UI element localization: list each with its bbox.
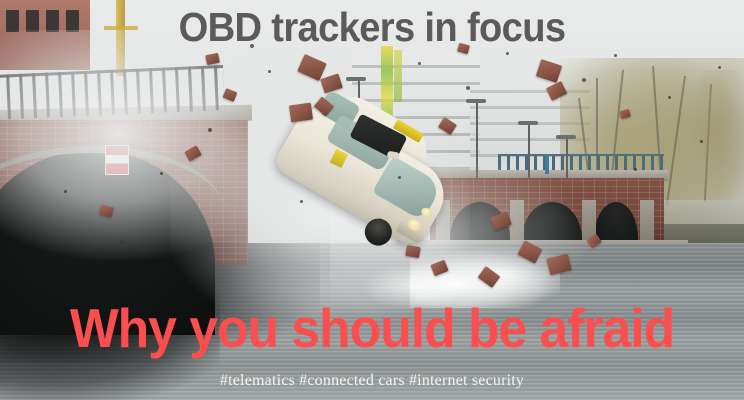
flying-brick [405, 245, 421, 258]
debris-speck [208, 128, 212, 132]
debris-speck [268, 70, 271, 73]
debris-speck [418, 62, 421, 65]
street-lamp-head-2 [518, 121, 538, 125]
debris-speck [700, 140, 703, 143]
debris-speck [160, 172, 163, 175]
debris-speck [466, 86, 470, 90]
debris-speck [718, 66, 721, 69]
hashtag-list: #telematics #connected cars #internet se… [0, 372, 744, 390]
debris-speck [634, 168, 637, 171]
page-title: OBD trackers in focus [26, 2, 718, 52]
debris-speck [300, 200, 303, 203]
debris-speck [614, 54, 617, 57]
article-header-banner: OBD trackers in focus Why you should be … [0, 0, 744, 400]
debris-speck [668, 96, 671, 99]
debris-speck [64, 190, 67, 193]
headline-text: Why you should be afraid [22, 298, 721, 358]
debris-speck [398, 176, 401, 179]
street-banner-sign-2 [394, 50, 402, 102]
street-lamp-head-3 [556, 135, 576, 139]
tree-far-right [690, 70, 744, 220]
debris-speck [582, 78, 586, 82]
flying-brick [289, 103, 313, 123]
debris-speck [120, 240, 124, 244]
debris-speck [506, 52, 509, 55]
